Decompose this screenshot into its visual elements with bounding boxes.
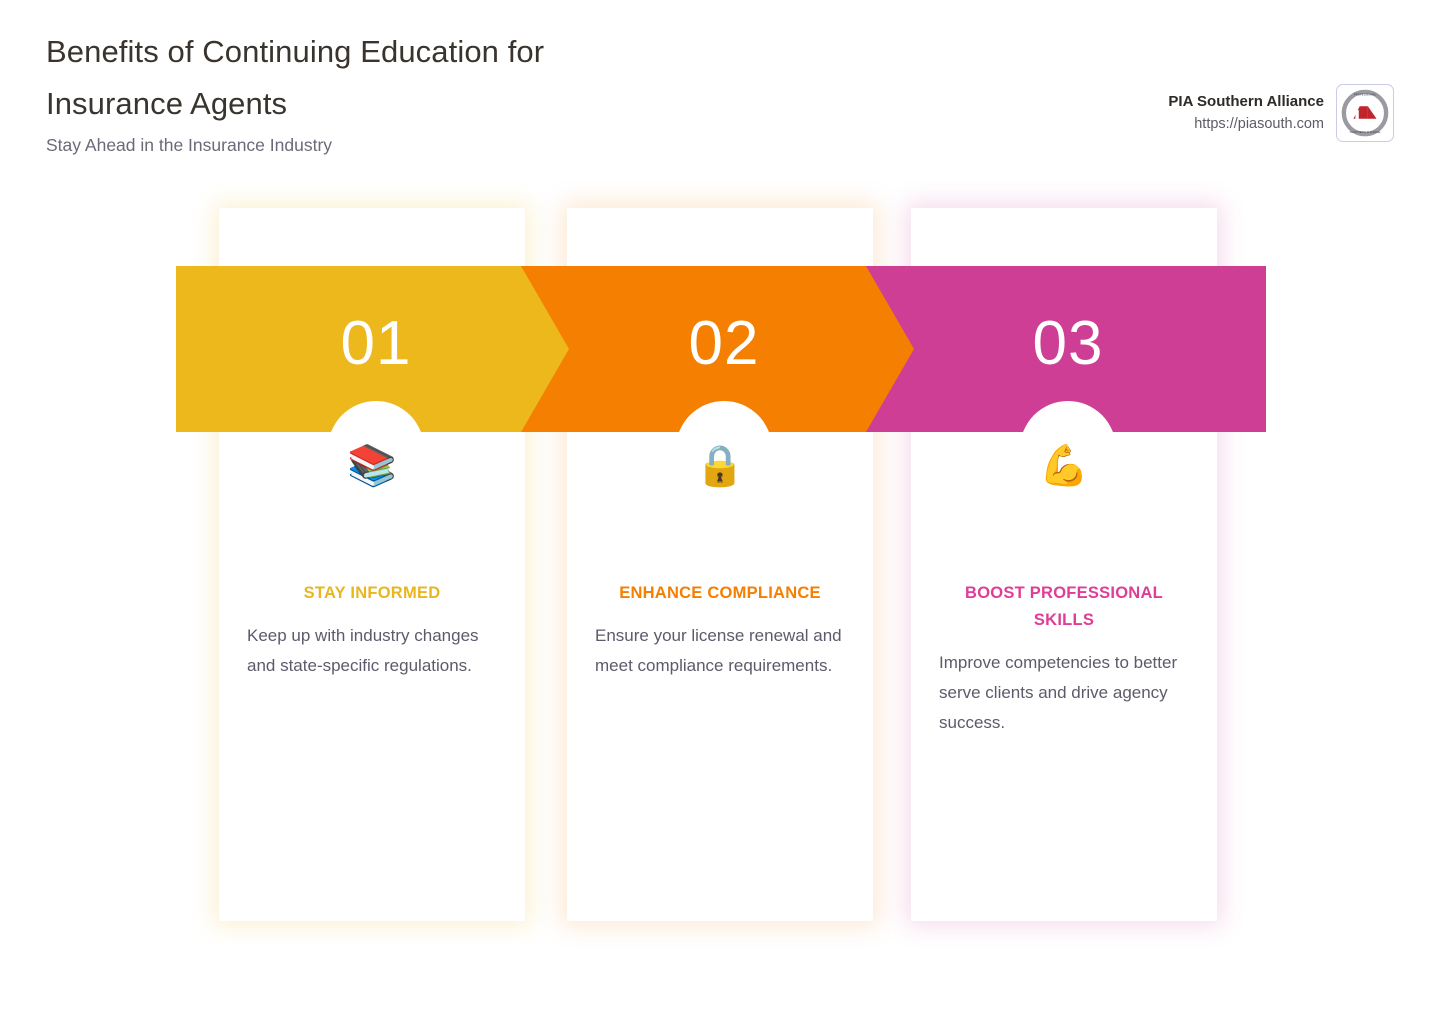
brand-logo: PROFESSIONAL SOUTHERN ALLIANCE xyxy=(1336,84,1394,142)
lock-icon: 🔒 xyxy=(595,440,845,492)
page-subtitle: Stay Ahead in the Insurance Industry xyxy=(46,133,332,157)
step-card-1-heading: STAY INFORMED xyxy=(247,580,497,607)
step-card-3-body: Improve competencies to better serve cli… xyxy=(939,648,1189,738)
step-card-2-heading: ENHANCE COMPLIANCE xyxy=(595,580,845,607)
svg-text:SOUTHERN ALLIANCE: SOUTHERN ALLIANCE xyxy=(1350,130,1381,134)
brand-block: PIA Southern Alliance https://piasouth.c… xyxy=(1168,84,1394,142)
step-number-2: 02 xyxy=(644,266,804,432)
brand-name: PIA Southern Alliance xyxy=(1168,91,1324,113)
step-number-1: 01 xyxy=(296,266,456,432)
brand-url[interactable]: https://piasouth.com xyxy=(1168,113,1324,135)
pia-southern-alliance-logo-icon: PROFESSIONAL SOUTHERN ALLIANCE xyxy=(1341,89,1389,137)
page-title-line-1: Benefits of Continuing Education for xyxy=(46,26,706,78)
step-card-2-content: 🔒 ENHANCE COMPLIANCE Ensure your license… xyxy=(567,440,873,681)
step-card-2-body: Ensure your license renewal and meet com… xyxy=(595,621,845,681)
chevron-step-banner: 01 02 03 xyxy=(176,266,1266,432)
infographic-page: Benefits of Continuing Education for Ins… xyxy=(0,0,1440,1024)
brand-text: PIA Southern Alliance https://piasouth.c… xyxy=(1168,91,1324,135)
step-card-1-content: 📚 STAY INFORMED Keep up with industry ch… xyxy=(219,440,525,681)
step-card-3-content: 💪 BOOST PROFESSIONAL SKILLS Improve comp… xyxy=(911,440,1217,738)
step-number-3: 03 xyxy=(988,266,1148,432)
page-title: Benefits of Continuing Education for Ins… xyxy=(46,26,706,130)
svg-text:PROFESSIONAL: PROFESSIONAL xyxy=(1354,93,1377,97)
step-card-1-body: Keep up with industry changes and state-… xyxy=(247,621,497,681)
flexed-biceps-icon: 💪 xyxy=(939,440,1189,492)
page-title-line-2: Insurance Agents xyxy=(46,78,706,130)
step-card-3-heading: BOOST PROFESSIONAL SKILLS xyxy=(939,580,1189,634)
books-icon: 📚 xyxy=(247,440,497,492)
